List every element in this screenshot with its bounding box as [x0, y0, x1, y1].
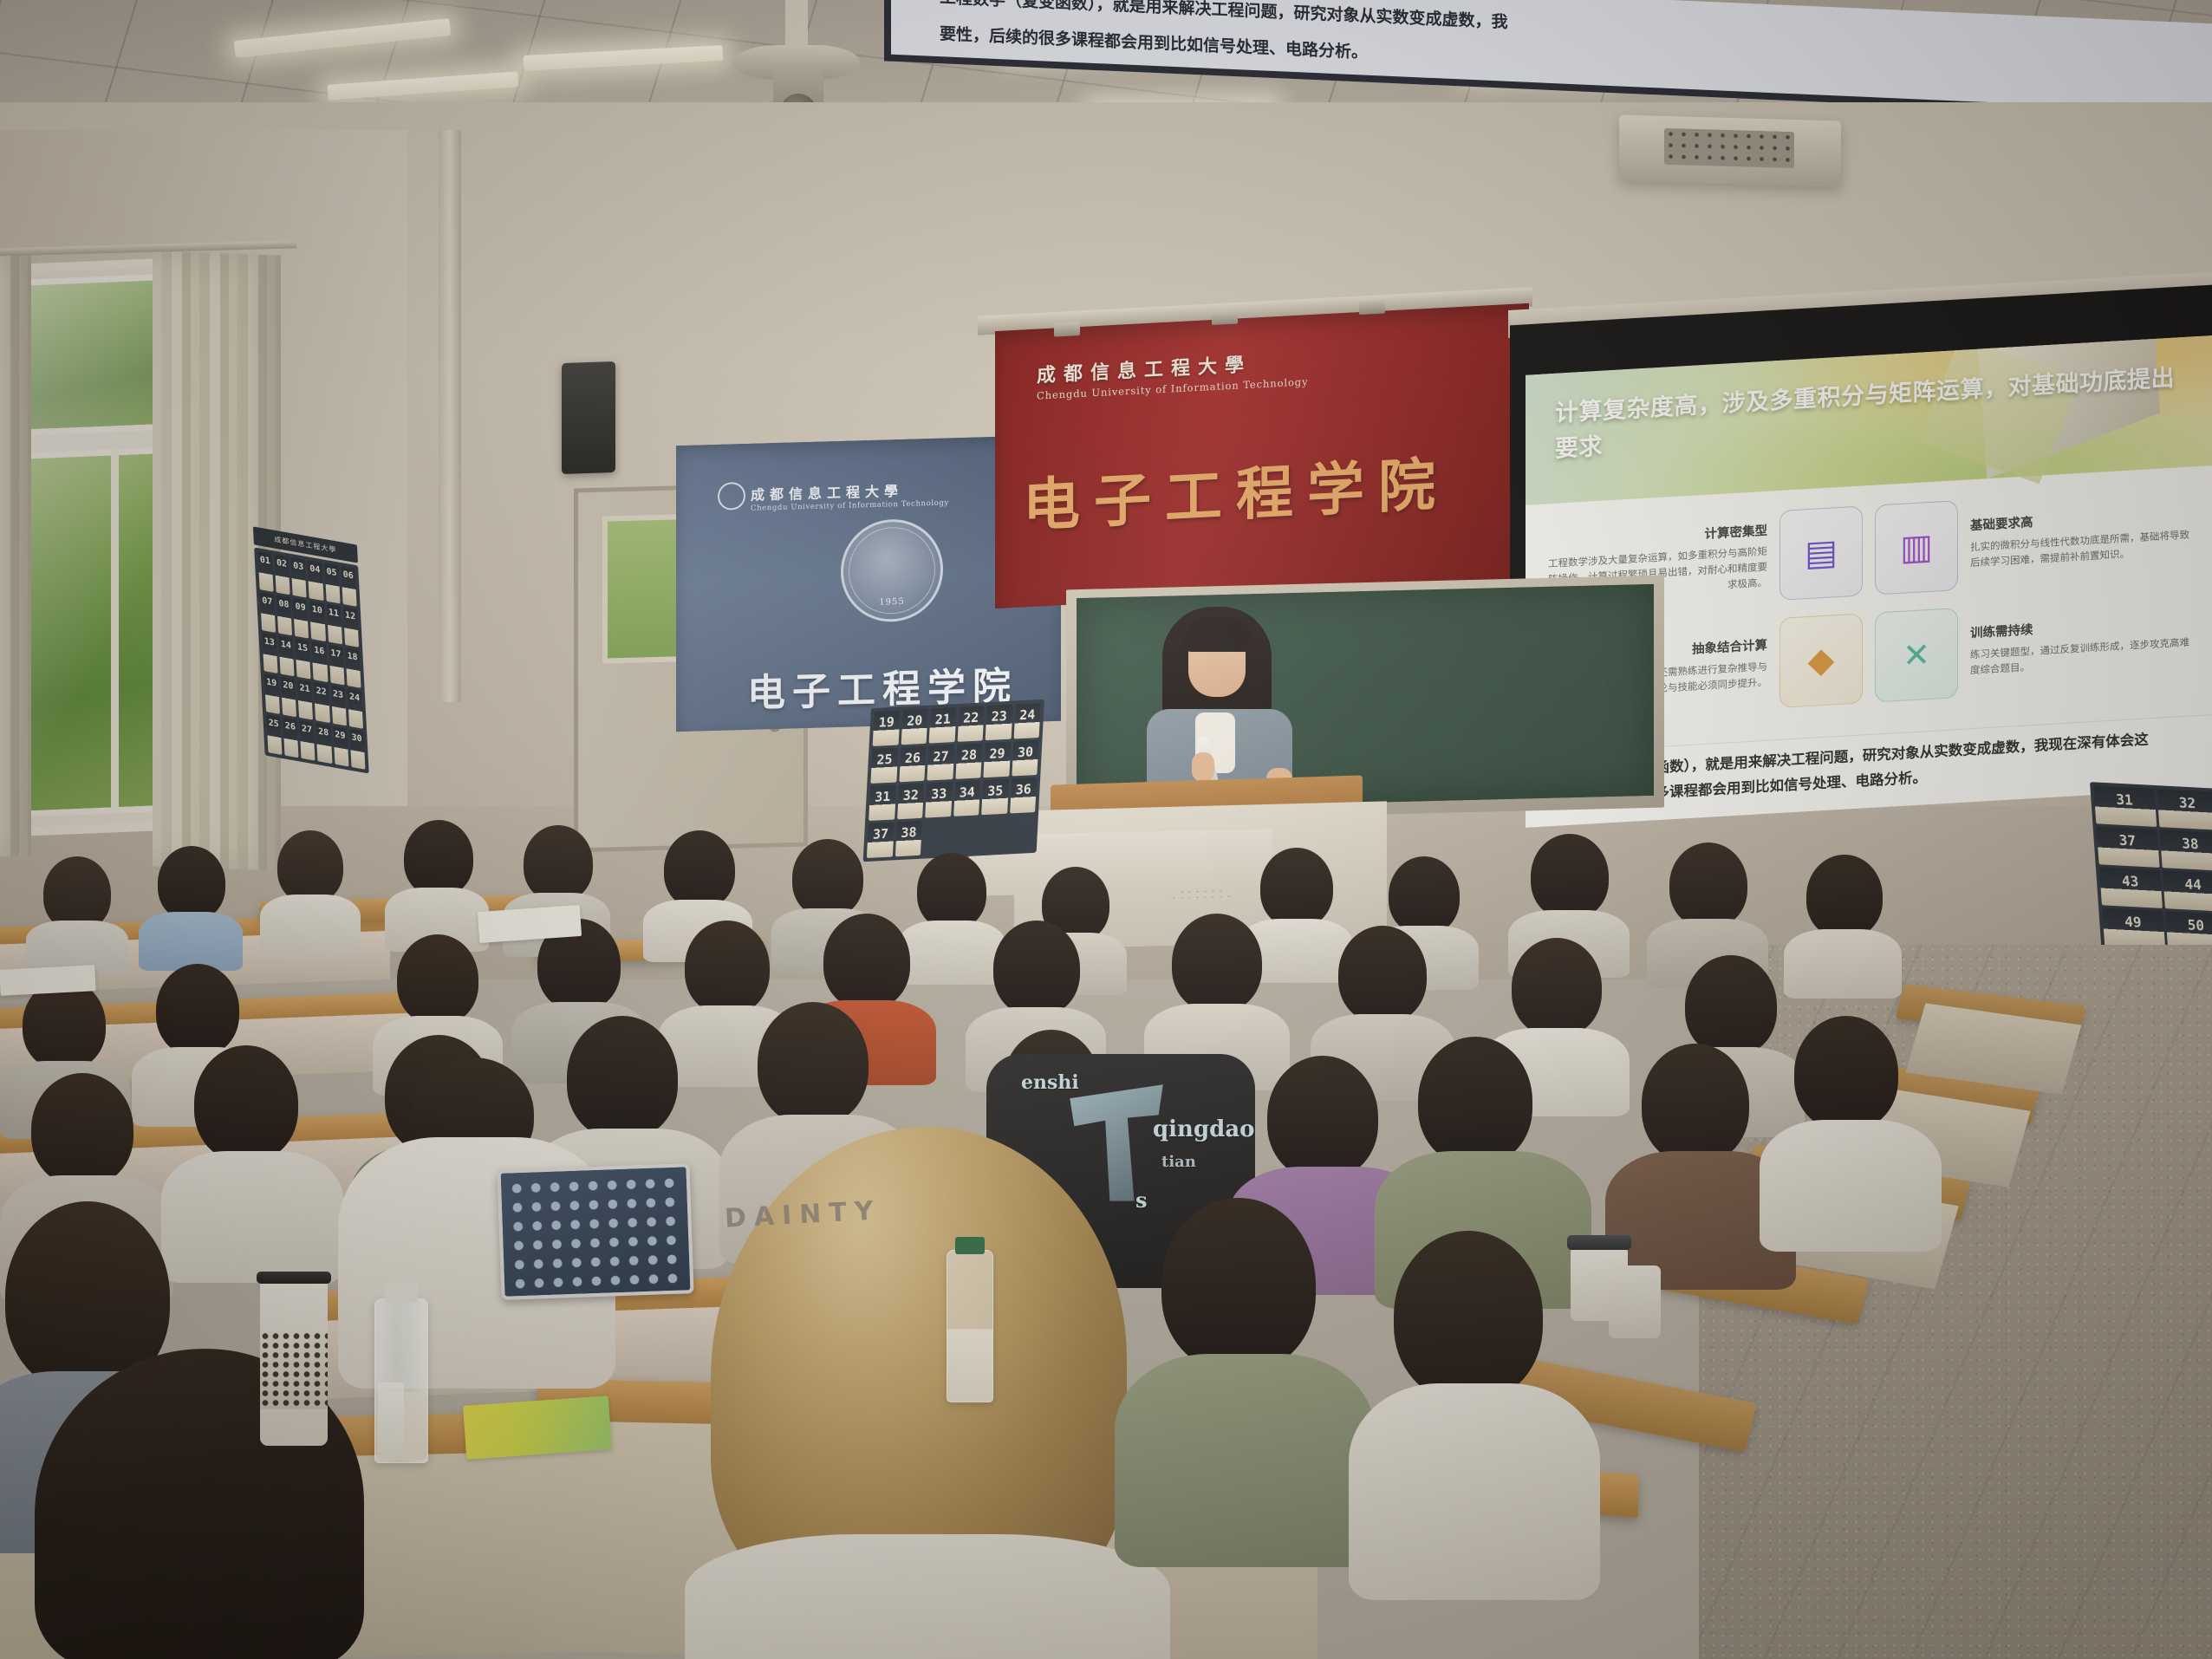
tumbler[interactable]: [1609, 1265, 1661, 1338]
projector-port-panel: [1664, 128, 1794, 168]
phone-pocket[interactable]: 30: [1012, 740, 1039, 777]
organizer-pocket-grid: 0102030405060708091011121314151617181920…: [254, 547, 369, 773]
college-emblem-icon: 1955: [841, 518, 943, 623]
phone-pocket[interactable]: 18: [345, 647, 361, 688]
lecture-hall-photo: 工程数学（复变函数），就是用来解决工程问题，研究对象从实数变成虚数，我 要性，后…: [0, 0, 2212, 1659]
student-head: [158, 846, 225, 921]
snack-pack[interactable]: [463, 1396, 612, 1460]
phone-pocket[interactable]: 28: [316, 723, 332, 764]
student-head: [524, 825, 593, 901]
phone-pocket[interactable]: 32: [897, 784, 925, 820]
student-torso: [1349, 1383, 1600, 1600]
student-head: [1642, 1044, 1749, 1163]
phone-pocket[interactable]: 26: [899, 746, 927, 783]
phone-pocket[interactable]: 23: [330, 686, 346, 726]
phone-pocket[interactable]: 24: [348, 688, 363, 729]
database-gear-icon: ▤: [1805, 532, 1838, 574]
phone-pocket[interactable]: 16: [312, 641, 328, 682]
student-head: [397, 934, 478, 1025]
slide-title-line2: 要求: [1555, 433, 1603, 461]
student-head: [1669, 843, 1747, 927]
student-seated: [385, 820, 489, 950]
phone-pocket[interactable]: 22: [957, 706, 985, 742]
organizer-pocket-grid: 1920212223242526272829303132333435363738: [863, 699, 1044, 862]
bottle-cap: [955, 1237, 985, 1254]
phone-pocket-organizer-middle[interactable]: 1920212223242526272829303132333435363738: [862, 699, 1044, 871]
phone-pocket[interactable]: 21: [297, 680, 313, 720]
organizer-pocket-grid: 3132373843444950: [2090, 782, 2212, 956]
student-head: [1161, 1198, 1316, 1371]
phone-pocket[interactable]: 25: [870, 747, 898, 784]
phone-pocket[interactable]: 05: [324, 563, 340, 604]
clipboard-tools-icon: ✕: [1903, 634, 1930, 675]
student-seated: [26, 856, 128, 969]
wall-pipe: [439, 130, 461, 702]
notebook-paper[interactable]: [0, 965, 96, 996]
student-head: [156, 964, 239, 1056]
milk-tea-bottle[interactable]: [947, 1250, 993, 1402]
slide-card-icon-box-2: ▥: [1875, 500, 1958, 595]
student-seated: [139, 846, 243, 967]
phone-pocket[interactable]: 38: [2159, 829, 2212, 871]
phone-pocket[interactable]: 34: [953, 780, 981, 816]
student-foreground-right: [1115, 1198, 1375, 1562]
bottle-label: [378, 1382, 404, 1454]
student-head: [792, 839, 863, 917]
student-foreground-right: [1349, 1231, 1600, 1595]
phone-pocket[interactable]: 04: [308, 560, 323, 601]
student-head: [1267, 1056, 1378, 1179]
student-head: [1806, 855, 1883, 938]
coffee-cup[interactable]: [260, 1281, 328, 1446]
phone-pocket[interactable]: 07: [260, 592, 276, 633]
phone-pocket[interactable]: 17: [329, 645, 344, 686]
slide-card-text-4: 训练需持续 练习关键题型，通过反复训练形成，逐步攻克高难度综合题目。: [1970, 612, 2193, 680]
student-torso: [1115, 1354, 1375, 1567]
red-banner-department: 电子工程学院: [1023, 433, 1543, 543]
phone-pocket[interactable]: 33: [925, 782, 953, 818]
student-head: [1512, 938, 1602, 1037]
phone-pocket[interactable]: 37: [2097, 826, 2160, 868]
student-seated: [1760, 1016, 1942, 1246]
phone-pocket[interactable]: 15: [296, 639, 311, 680]
phone-pocket[interactable]: 06: [341, 566, 356, 607]
phone-pocket[interactable]: 38: [895, 821, 922, 857]
phone-pocket-organizer-right[interactable]: 3132373843444950: [2090, 782, 2212, 962]
student-head: [993, 921, 1080, 1016]
layers-icon: ◆: [1808, 640, 1835, 681]
student-head: [664, 830, 735, 908]
student-head: [685, 921, 770, 1014]
phone-pocket[interactable]: 10: [309, 601, 325, 641]
student-seated: [260, 830, 361, 953]
phone-pocket[interactable]: 20: [281, 677, 296, 718]
tablet-device[interactable]: [497, 1163, 693, 1300]
phone-pocket[interactable]: 43: [2099, 867, 2163, 908]
student-head: [277, 830, 343, 903]
emblem-year: 1955: [843, 596, 940, 608]
student-torso: [260, 895, 361, 955]
red-department-banner: 成都信息工程大學 Chengdu University of Informati…: [995, 303, 1529, 608]
phone-pocket[interactable]: 25: [266, 714, 282, 755]
phone-pocket[interactable]: 08: [276, 595, 292, 636]
presenter-fringe: [1183, 617, 1252, 652]
phone-pocket[interactable]: 36: [1010, 777, 1038, 814]
student-head: [1531, 834, 1609, 919]
phone-pocket[interactable]: 44: [2162, 870, 2212, 912]
phone-pocket[interactable]: 29: [983, 742, 1011, 778]
phone-pocket[interactable]: 19: [264, 673, 280, 714]
phone-pocket[interactable]: 49: [2102, 908, 2165, 949]
phone-pocket[interactable]: 32: [2157, 789, 2212, 830]
student-torso: [139, 912, 243, 971]
student-head: [194, 1045, 298, 1161]
phone-pocket[interactable]: 02: [275, 555, 290, 595]
tshirt-text-left: enshi: [1021, 1071, 1079, 1094]
student-head: [404, 820, 473, 896]
university-seal-icon: [718, 482, 745, 511]
student-head: [1394, 1231, 1543, 1401]
student-head: [31, 1073, 133, 1186]
phone-pocket[interactable]: 26: [283, 718, 298, 758]
window-mullion: [111, 449, 119, 813]
tumbler-lid-icon: [1567, 1235, 1631, 1250]
slide-card-text-2: 基础要求高 扎实的微积分与线性代数功底是所需，基础将导致后续学习困难，需提前补前…: [1970, 504, 2193, 572]
chart-monitor-icon: ▥: [1900, 527, 1933, 569]
phone-pocket[interactable]: 23: [986, 705, 1013, 741]
phone-pocket[interactable]: 13: [262, 633, 277, 673]
phone-pocket[interactable]: 27: [927, 745, 954, 781]
phone-pocket[interactable]: 27: [300, 720, 316, 761]
window-curtain-left: [0, 249, 31, 857]
ceiling-projector: [1619, 114, 1841, 186]
student-torso: [685, 1534, 1170, 1659]
student-head: [1338, 926, 1427, 1023]
phone-pocket[interactable]: 30: [349, 729, 365, 770]
phone-pocket[interactable]: 35: [981, 779, 1009, 816]
wall-speaker-icon: [562, 361, 615, 474]
slide-title-line1: 计算复杂度高，涉及多重积分与矩阵运算，对基础功底提出: [1555, 365, 2175, 426]
student-head: [1418, 1037, 1532, 1165]
phone-pocket[interactable]: 19: [873, 710, 901, 746]
phone-pocket[interactable]: 29: [333, 726, 348, 767]
cup-sleeve-pattern: [260, 1331, 328, 1409]
phone-pocket[interactable]: 21: [929, 707, 957, 744]
phone-pocket[interactable]: 09: [293, 598, 309, 639]
cup-lid-icon: [257, 1272, 331, 1284]
phone-pocket[interactable]: 14: [278, 636, 294, 677]
water-bottle[interactable]: [374, 1298, 428, 1463]
student-head: [1794, 1016, 1898, 1130]
student-head: [1172, 914, 1262, 1012]
student-torso: [1760, 1120, 1942, 1252]
student-head: [823, 914, 910, 1009]
phone-pocket[interactable]: 03: [291, 557, 307, 598]
phone-pocket[interactable]: 24: [1013, 703, 1041, 739]
student-head: [758, 1002, 869, 1125]
phone-pocket[interactable]: 22: [314, 682, 329, 723]
tablet-app-grid[interactable]: [507, 1174, 684, 1291]
phone-pocket[interactable]: 28: [955, 743, 983, 779]
slide-title: 计算复杂度高，涉及多重积分与矩阵运算，对基础功底提出 要求: [1555, 360, 2179, 466]
student-head: [1389, 856, 1460, 934]
phone-pocket-organizer-left[interactable]: 成都信息工程大學 0102030405060708091011121314151…: [253, 526, 371, 813]
bottle-cap: [385, 1284, 418, 1303]
phone-pocket[interactable]: 11: [326, 604, 342, 645]
phone-pocket[interactable]: 20: [901, 709, 928, 745]
phone-pocket[interactable]: 31: [869, 784, 896, 821]
tshirt-text-small: tian: [1161, 1153, 1196, 1171]
phone-pocket[interactable]: 01: [257, 551, 273, 592]
slide-card-icon-box-1: ▤: [1779, 505, 1863, 601]
slide-card-icon-box-3: ◆: [1779, 613, 1863, 708]
phone-pocket[interactable]: 12: [343, 607, 359, 647]
presenter-hand-left: [1192, 752, 1214, 782]
phone-pocket[interactable]: 31: [2093, 785, 2157, 827]
slide-card-icon-box-4: ✕: [1875, 608, 1958, 703]
